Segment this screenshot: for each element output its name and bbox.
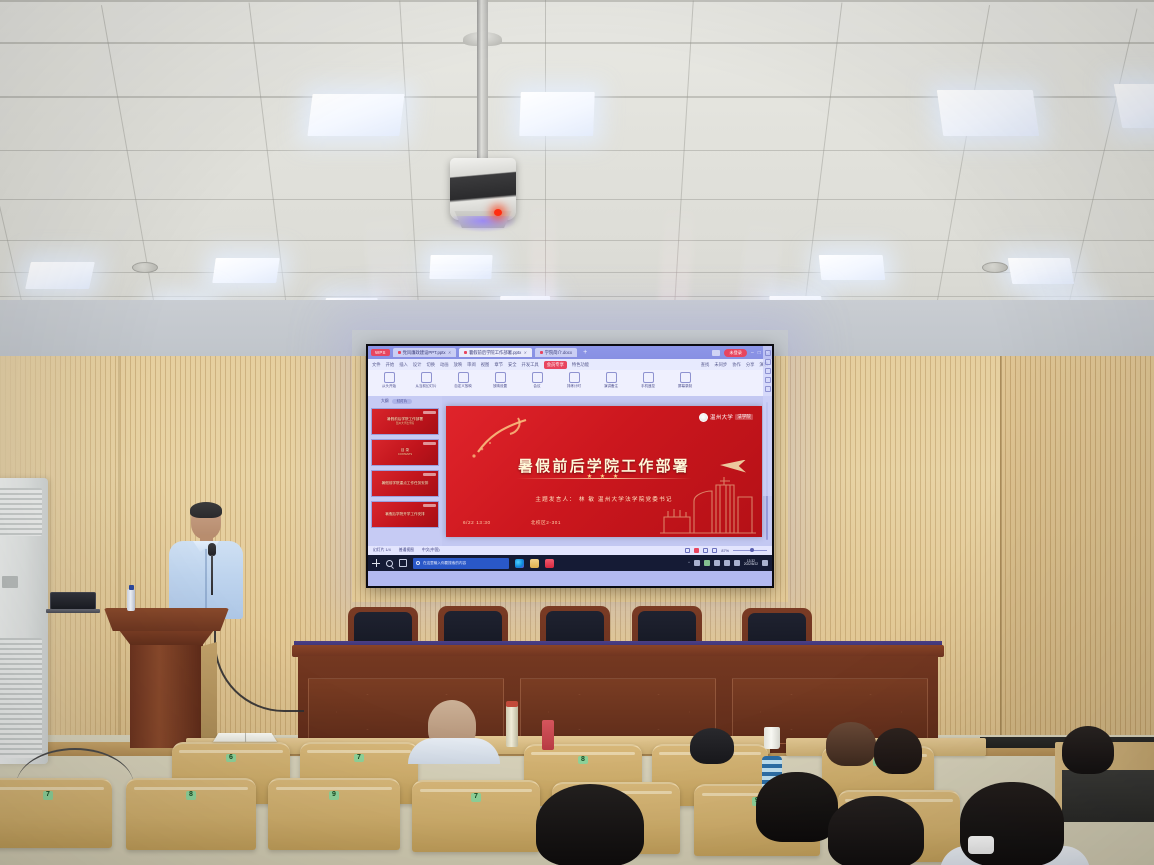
zoom-slider[interactable] xyxy=(733,550,767,551)
ribbon-label: 屏幕录制 xyxy=(678,384,692,389)
ribbon-svg xyxy=(468,416,534,460)
thumb-logo xyxy=(423,411,436,414)
bottle-cap xyxy=(129,585,134,590)
record-icon xyxy=(680,372,691,383)
ribbon-from-beginning[interactable]: 从头开始 xyxy=(374,372,404,389)
ribbon-rehearse[interactable]: 排练计时 xyxy=(559,372,589,389)
auditorium-seat[interactable]: 7 xyxy=(412,780,540,852)
edge-icon[interactable] xyxy=(515,559,524,568)
audience-member xyxy=(690,728,734,764)
presenter-laptop xyxy=(46,592,100,614)
ribbon-notes[interactable]: 演讲备注 xyxy=(596,372,626,389)
ribbon-from-current[interactable]: 从当前幻灯片 xyxy=(411,372,441,389)
wps-tab-active[interactable]: 暑假前后学院工作部署.pptx ✕ xyxy=(459,348,532,357)
current-slide[interactable]: 温州大学 法学院 暑假前后学院工作部署 ★ ★ ★ 主题发言人： 林 敏 温州大… xyxy=(446,406,762,537)
university-logo: 温州大学 法学院 xyxy=(699,413,753,422)
bottle-body xyxy=(127,589,135,611)
red-folder xyxy=(542,720,554,750)
search-glass-icon xyxy=(416,561,420,565)
ribbon-custom-show[interactable]: 自定义放映 xyxy=(448,372,478,389)
format-shape-icon[interactable] xyxy=(765,359,771,365)
document-icon xyxy=(398,351,401,354)
person-hair xyxy=(1062,726,1114,774)
taskbar-clock[interactable]: 13:32 2022/6/22 xyxy=(744,560,758,567)
logo-seal-icon xyxy=(699,413,708,422)
menu-item-file[interactable]: 文件 xyxy=(372,362,381,368)
slide-thumbnail[interactable]: 3 暑假前学院重点工作任务安排 xyxy=(371,470,439,497)
menu-item-design[interactable]: 设计 xyxy=(413,362,422,368)
wps-tab[interactable]: 党风廉政建设PPT.pptx ✕ xyxy=(393,348,456,357)
title-bar-right: 未登录 – □ ✕ xyxy=(712,349,769,357)
status-language: 中文(中国) xyxy=(422,548,440,553)
close-icon[interactable]: ✕ xyxy=(523,350,526,355)
paper-cup xyxy=(764,727,780,749)
slide-footer: 6/22 13:30 北校区2-301 xyxy=(463,520,561,526)
menu-item-member[interactable]: 会员专享 xyxy=(544,361,567,369)
ribbon-label: 手机遥控 xyxy=(641,384,655,389)
clock-date: 2022/6/22 xyxy=(744,562,758,566)
person-hair xyxy=(874,728,922,774)
normal-view-icon[interactable] xyxy=(685,548,690,553)
apps-icon[interactable] xyxy=(712,350,720,356)
auditorium-seat[interactable]: 8 xyxy=(126,778,256,850)
outline-tab[interactable]: 大纲 xyxy=(381,399,389,404)
audience-member-front xyxy=(536,784,644,865)
settings-icon xyxy=(495,372,506,383)
microphone xyxy=(208,543,216,595)
slideshow-icon[interactable] xyxy=(712,548,717,553)
zoom-level: 87% xyxy=(721,549,729,553)
podium xyxy=(104,608,229,748)
slide-editing-stage[interactable]: 温州大学 法学院 暑假前后学院工作部署 ★ ★ ★ 主题发言人： 林 敏 温州大… xyxy=(442,396,772,546)
city-skyline-art xyxy=(660,477,756,535)
audience-member xyxy=(874,728,922,774)
wall-right-column xyxy=(1000,356,1154,756)
person-hair xyxy=(828,796,924,865)
thumb-logo xyxy=(423,504,436,507)
presenter-hair xyxy=(190,502,222,518)
bottle-cap xyxy=(506,701,518,707)
thumb-title: 暑假前后学院工作部署 温州大学法学院 xyxy=(387,417,423,425)
ribbon-show-settings[interactable]: 放映设置 xyxy=(485,372,515,389)
ac-bottom-vent xyxy=(0,638,42,758)
notes-icon xyxy=(606,372,617,383)
wps-logo: WPS xyxy=(371,349,390,356)
seat-number-tag: 8 xyxy=(186,791,196,800)
wps-icon[interactable] xyxy=(545,559,554,568)
thumb-line1: 目 录 xyxy=(401,448,409,452)
menu-item-features[interactable]: 特色功能 xyxy=(572,362,589,368)
ribbon-label: 放映设置 xyxy=(493,384,507,389)
ribbon-label: 从头开始 xyxy=(382,384,396,389)
person-hair xyxy=(826,722,876,766)
seat-number-tag: 6 xyxy=(226,754,236,763)
thumb-title: 暑假后学院开学工作安排 xyxy=(385,512,425,517)
chevron-up-icon[interactable]: ^ xyxy=(688,561,690,565)
projection-screen: WPS 党风廉政建设PPT.pptx ✕ 暑假前后学院工作部署.pptx ✕ 学… xyxy=(366,344,774,588)
wps-tab-label: 暑假前后学院工作部署.pptx xyxy=(469,350,521,356)
person-hair xyxy=(536,784,644,865)
wps-tab-label: 学院简介.docx xyxy=(545,350,572,356)
windows-taskbar[interactable]: 在这里输入你要搜索的内容 ^ 13:32 2022/6/22 xyxy=(368,555,772,571)
auditorium-seat[interactable]: 9 xyxy=(268,778,400,850)
audience-member-front xyxy=(756,772,838,842)
menu-item-animation[interactable]: 动画 xyxy=(440,362,449,368)
logo-department: 法学院 xyxy=(735,414,753,420)
document-icon xyxy=(464,351,467,354)
audience-member-front xyxy=(828,796,924,865)
tall-water-bottle xyxy=(506,705,518,747)
ribbon-meeting[interactable]: 会议 xyxy=(522,372,552,389)
play-icon xyxy=(384,372,395,383)
ceiling-speaker xyxy=(982,262,1008,273)
menu-item-devtools[interactable]: 开发工具 xyxy=(522,362,539,368)
ribbon-label: 排练计时 xyxy=(567,384,581,389)
system-tray[interactable]: ^ 13:32 2022/6/22 xyxy=(688,560,768,567)
thumb-line1: 暑假后学院开学工作安排 xyxy=(385,512,425,516)
slide-footer-time: 6/22 13:30 xyxy=(463,520,491,526)
laptop-screen xyxy=(50,592,96,610)
sorter-view-icon[interactable] xyxy=(694,548,699,553)
projected-desktop: WPS 党风廉政建设PPT.pptx ✕ 暑假前后学院工作部署.pptx ✕ 学… xyxy=(368,346,772,586)
seat-number-tag: 7 xyxy=(354,754,364,763)
thumb-line2: 温州大学法学院 xyxy=(387,422,423,426)
logo-university-name: 温州大学 xyxy=(710,413,733,421)
menu-find[interactable]: 查找 xyxy=(701,362,710,368)
task-view-icon[interactable] xyxy=(399,559,407,567)
cloud-icon[interactable] xyxy=(724,560,730,566)
face-mask xyxy=(968,836,994,854)
open-notebook xyxy=(213,733,277,742)
taskbar-search-field[interactable]: 在这里输入你要搜索的内容 xyxy=(413,558,509,569)
thumb-line2: CONTENTS xyxy=(398,453,412,457)
menu-share[interactable]: 分享 xyxy=(746,362,755,368)
projector-lamp-glow xyxy=(450,216,516,232)
wall-seam xyxy=(1000,356,1002,756)
account-badge[interactable]: 未登录 xyxy=(724,349,747,357)
menu-sync[interactable]: 未同步 xyxy=(714,362,727,368)
air-conditioner xyxy=(0,478,48,764)
skyline-svg xyxy=(660,477,756,535)
wps-ribbon: 从头开始 从当前幻灯片 自定义放映 放映设置 会议 xyxy=(368,370,772,396)
ceiling-speaker xyxy=(132,262,158,273)
ribbon-label: 会议 xyxy=(534,384,541,389)
document-icon xyxy=(540,351,543,354)
projector-power-led xyxy=(494,209,502,216)
presenter xyxy=(163,503,249,618)
seat-number-tag: 7 xyxy=(471,793,481,802)
network-icon[interactable] xyxy=(694,560,700,566)
decorative-ribbon-icon xyxy=(468,416,534,460)
menu-item-security[interactable]: 安全 xyxy=(508,362,517,368)
maximize-icon[interactable]: □ xyxy=(758,350,761,356)
phone-icon xyxy=(643,372,654,383)
projector xyxy=(450,158,516,220)
menu-item-slideshow[interactable]: 放映 xyxy=(454,362,463,368)
podium-neck xyxy=(119,630,214,645)
notifications-icon[interactable] xyxy=(762,560,768,566)
menu-item-transition[interactable]: 切换 xyxy=(426,362,435,368)
wps-status-bar: 幻灯片 1/4 普通视图 中文(中国) 87% xyxy=(368,546,772,555)
slides-tab[interactable]: 幻灯片 xyxy=(392,399,413,404)
person-hair xyxy=(690,728,734,764)
slide-thumbnail[interactable]: 4 暑假后学院开学工作安排 xyxy=(371,501,439,528)
person-shoulders xyxy=(408,738,500,764)
status-slide-count: 幻灯片 1/4 xyxy=(373,548,391,553)
custom-show-icon xyxy=(458,372,469,383)
menu-item-insert[interactable]: 插入 xyxy=(399,362,408,368)
side-desk-shadow xyxy=(1062,770,1154,822)
thumb-logo xyxy=(423,473,436,476)
close-icon[interactable]: ✕ xyxy=(448,350,451,355)
seat-number-tag: 7 xyxy=(43,791,53,800)
person-hair xyxy=(756,772,838,842)
menu-item-review[interactable]: 审阅 xyxy=(467,362,476,368)
reading-view-icon[interactable] xyxy=(703,548,708,553)
template-icon[interactable] xyxy=(765,377,771,383)
audience-member xyxy=(826,722,876,766)
ceiling-light xyxy=(307,94,404,136)
presenter-shirt-placket xyxy=(205,549,207,617)
ribbon-label: 自定义放映 xyxy=(454,384,472,389)
wps-tab-label: 党风廉政建设PPT.pptx xyxy=(403,350,446,356)
ac-top-vent xyxy=(0,488,42,536)
ceiling-light xyxy=(1008,258,1075,284)
slide-thumbnail-panel[interactable]: 大纲 幻灯片 1 暑假前后学院工作部署 温州大学法学院 2 xyxy=(368,396,442,546)
design-ideas-icon[interactable] xyxy=(765,350,771,356)
new-tab-icon[interactable]: + xyxy=(580,349,590,356)
ribbon-label: 演讲备注 xyxy=(604,384,618,389)
search-icon[interactable] xyxy=(386,560,393,567)
ceiling-light xyxy=(519,92,595,136)
menu-item-section[interactable]: 章节 xyxy=(494,362,503,368)
menu-item-home[interactable]: 开始 xyxy=(386,362,395,368)
podium-body xyxy=(130,644,203,748)
right-tool-sidebar[interactable] xyxy=(763,346,772,496)
zoom-slider-knob[interactable] xyxy=(750,548,754,552)
ceiling-light xyxy=(819,255,886,280)
ceiling-light xyxy=(429,255,492,279)
thumbnail-panel-header: 大纲 幻灯片 xyxy=(371,399,439,404)
timer-icon xyxy=(569,372,580,383)
windows-start-icon[interactable] xyxy=(372,559,380,567)
ceiling-light xyxy=(212,258,280,283)
ceiling-light xyxy=(937,90,1039,136)
wps-workspace: 大纲 幻灯片 1 暑假前后学院工作部署 温州大学法学院 2 xyxy=(368,396,772,546)
ime-icon[interactable] xyxy=(734,560,740,566)
status-view-mode: 普通视图 xyxy=(399,548,414,553)
ac-control-panel[interactable] xyxy=(2,576,18,588)
podium-top xyxy=(104,608,229,631)
menu-collab[interactable]: 协作 xyxy=(732,362,741,368)
ribbon-phone-remote[interactable]: 手机遥控 xyxy=(633,372,663,389)
auditorium-seat[interactable]: 7 xyxy=(0,778,112,848)
auditorium-photo: WPS 党风廉政建设PPT.pptx ✕ 暑假前后学院工作部署.pptx ✕ 学… xyxy=(0,0,1154,865)
seat-number-tag: 9 xyxy=(329,791,339,800)
thumb-title: 目 录 CONTENTS xyxy=(398,448,412,456)
explorer-icon[interactable] xyxy=(530,559,539,568)
laptop-keyboard xyxy=(46,609,100,613)
microphone-stem xyxy=(211,555,213,595)
audience-member-right xyxy=(1062,726,1114,774)
taskbar-search-text: 在这里输入你要搜索的内容 xyxy=(423,561,466,566)
chart-tools-icon[interactable] xyxy=(765,386,771,392)
seat-number-tag: 8 xyxy=(578,756,588,765)
meeting-icon xyxy=(532,372,543,383)
thumb-line1: 暑假前后学院工作部署 xyxy=(387,417,423,421)
wps-menu-bar: 文件 开始 插入 设计 切换 动画 放映 审阅 视图 章节 安全 开发工具 会员… xyxy=(368,359,772,370)
slide-thumbnail[interactable]: 1 暑假前后学院工作部署 温州大学法学院 xyxy=(371,408,439,435)
projector-pole xyxy=(477,0,488,178)
shield-icon[interactable] xyxy=(704,560,710,566)
thumb-title: 暑假前学院重点工作任务安排 xyxy=(382,481,429,486)
thumb-line1: 暑假前学院重点工作任务安排 xyxy=(382,481,429,485)
thumb-logo xyxy=(423,442,436,445)
status-bar-right: 87% xyxy=(685,548,767,553)
wps-title-bar: WPS 党风廉政建设PPT.pptx ✕ 暑假前后学院工作部署.pptx ✕ 学… xyxy=(368,346,772,359)
ribbon-label: 从当前幻灯片 xyxy=(416,384,437,389)
wps-tab[interactable]: 学院简介.docx xyxy=(535,348,577,357)
ceiling-light xyxy=(25,262,95,289)
slide-thumbnail[interactable]: 2 目 录 CONTENTS xyxy=(371,439,439,466)
media-library-icon[interactable] xyxy=(765,368,771,374)
slide-footer-place: 北校区2-301 xyxy=(531,520,561,526)
play-current-icon xyxy=(421,372,432,383)
ribbon-screen-record[interactable]: 屏幕录制 xyxy=(670,372,700,389)
presenter-water-bottle xyxy=(127,589,135,611)
menu-item-view[interactable]: 视图 xyxy=(481,362,490,368)
volume-icon[interactable] xyxy=(714,560,720,566)
minimize-icon[interactable]: – xyxy=(751,350,754,356)
podium-side-panel xyxy=(201,642,217,748)
